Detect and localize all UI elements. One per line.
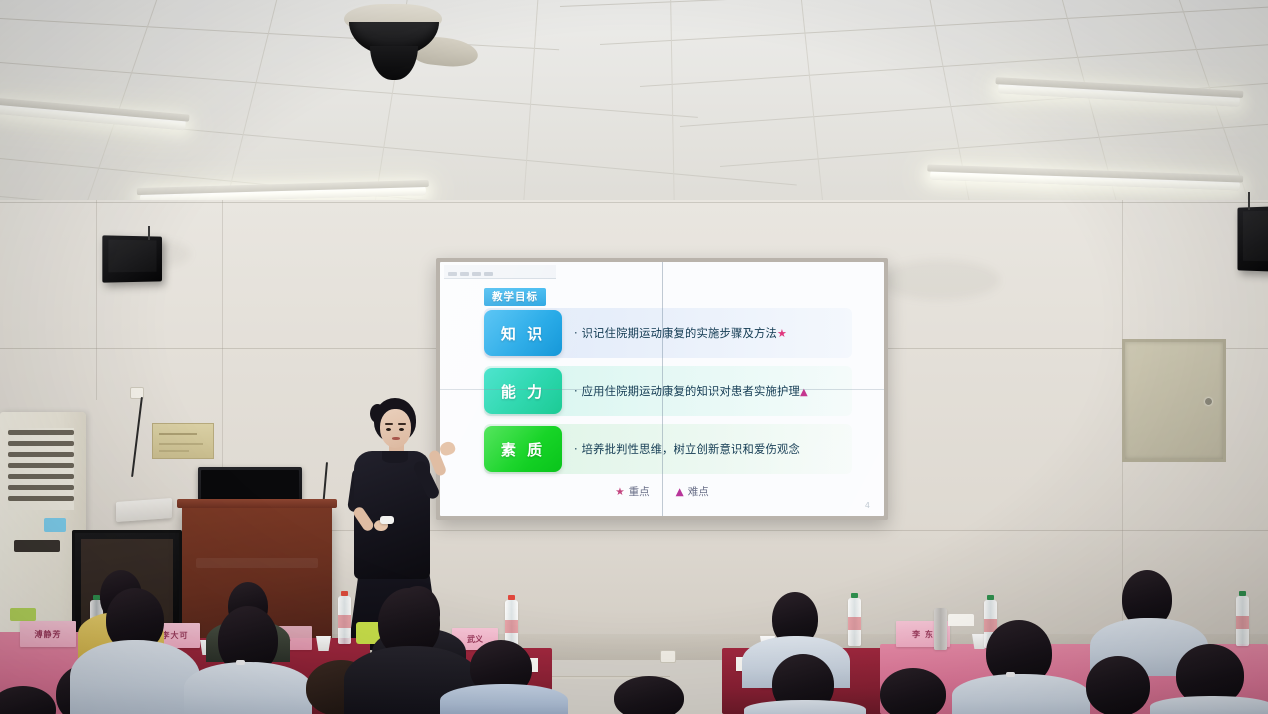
utility-access-panel[interactable] xyxy=(1122,339,1226,462)
objective-text-ability: · 应用住院期运动康复的知识对患者实施护理▲ xyxy=(574,383,808,399)
attendee-head xyxy=(880,668,946,714)
attendee-shoulders xyxy=(744,700,866,714)
paper-cup xyxy=(316,636,331,651)
objective-row-knowledge: 知 识 · 识记住院期运动康复的实施步骤及方法★ xyxy=(484,308,852,358)
ceiling xyxy=(0,0,1268,222)
objective-body-quality: · 培养批判性思维，树立创新意识和爱伤观念 xyxy=(574,443,800,456)
objective-text-quality: · 培养批判性思维，树立创新意识和爱伤观念 xyxy=(574,441,800,457)
hair-clip xyxy=(236,660,245,665)
attendee-shoulders xyxy=(184,662,312,714)
objective-row-ability: 能 力 · 应用住院期运动康复的知识对患者实施护理▲ xyxy=(484,366,852,416)
presenter-face xyxy=(380,409,411,448)
laptop-device[interactable] xyxy=(116,498,172,522)
classroom-scene: 教学目标 知 识 · 识记住院期运动康复的实施步骤及方法★ 能 力 · 应用住院… xyxy=(0,0,1268,714)
ac-sticker xyxy=(10,608,36,621)
slide-page-number: 4 xyxy=(865,501,870,510)
water-bottle xyxy=(338,596,351,644)
water-bottle xyxy=(1236,596,1249,646)
objective-body-knowledge: · 识记住院期运动康复的实施步骤及方法 xyxy=(574,327,777,340)
power-outlet xyxy=(660,650,676,663)
attendee-head xyxy=(614,676,684,714)
ac-vent-grille xyxy=(8,428,74,510)
legend-item-difficult-point: ▲ 难点 xyxy=(676,484,709,499)
objective-pill-ability: 能 力 xyxy=(484,368,562,414)
water-bottle xyxy=(934,608,947,650)
name-card: 溥静芳 xyxy=(20,621,76,647)
presenter-mouth xyxy=(392,437,400,440)
tissue-pack xyxy=(948,614,974,626)
attendee-head xyxy=(1086,656,1150,714)
screen-panel-seam-horizontal xyxy=(440,389,884,390)
legend-label-key-point: 重点 xyxy=(629,484,650,499)
legend-item-key-point: ★ 重点 xyxy=(615,484,649,499)
attendee-shoulders xyxy=(70,640,200,714)
legend-star-icon: ★ xyxy=(615,486,624,498)
ac-badge xyxy=(44,518,66,532)
objective-row-quality: 素 质 · 培养批判性思维，树立创新意识和爱伤观念 xyxy=(484,424,852,474)
wall-speaker-left xyxy=(102,235,162,282)
slide-surface: 教学目标 知 识 · 识记住院期运动康复的实施步骤及方法★ 能 力 · 应用住院… xyxy=(440,262,884,516)
projection-screen: 教学目标 知 识 · 识记住院期运动康复的实施步骤及方法★ 能 力 · 应用住院… xyxy=(436,258,888,520)
wall-speaker-right xyxy=(1237,206,1268,271)
legend-label-difficult-point: 难点 xyxy=(688,484,709,499)
objective-pill-quality: 素 质 xyxy=(484,426,562,472)
remote-clicker[interactable] xyxy=(380,516,394,524)
presenter-right-hand xyxy=(438,440,456,457)
attendee-shoulders xyxy=(440,684,568,714)
slide-header-tab: 教学目标 xyxy=(484,288,546,306)
objective-text-knowledge: · 识记住院期运动康复的实施步骤及方法★ xyxy=(574,325,787,341)
legend-triangle-icon: ▲ xyxy=(676,486,684,498)
hair-clip xyxy=(1006,672,1015,677)
panel-latch-knob[interactable] xyxy=(1205,398,1212,405)
wall-plaque xyxy=(152,423,214,459)
attendee-shoulders xyxy=(952,674,1090,714)
key-point-star-icon: ★ xyxy=(777,327,787,340)
presenter-collar xyxy=(382,451,408,463)
objective-body-ability: · 应用住院期运动康复的知识对患者实施护理 xyxy=(574,385,800,398)
water-bottle xyxy=(848,598,861,646)
attendee-shoulders xyxy=(1150,696,1268,714)
objective-pill-knowledge: 知 识 xyxy=(484,310,562,356)
ac-display-panel xyxy=(14,540,60,552)
